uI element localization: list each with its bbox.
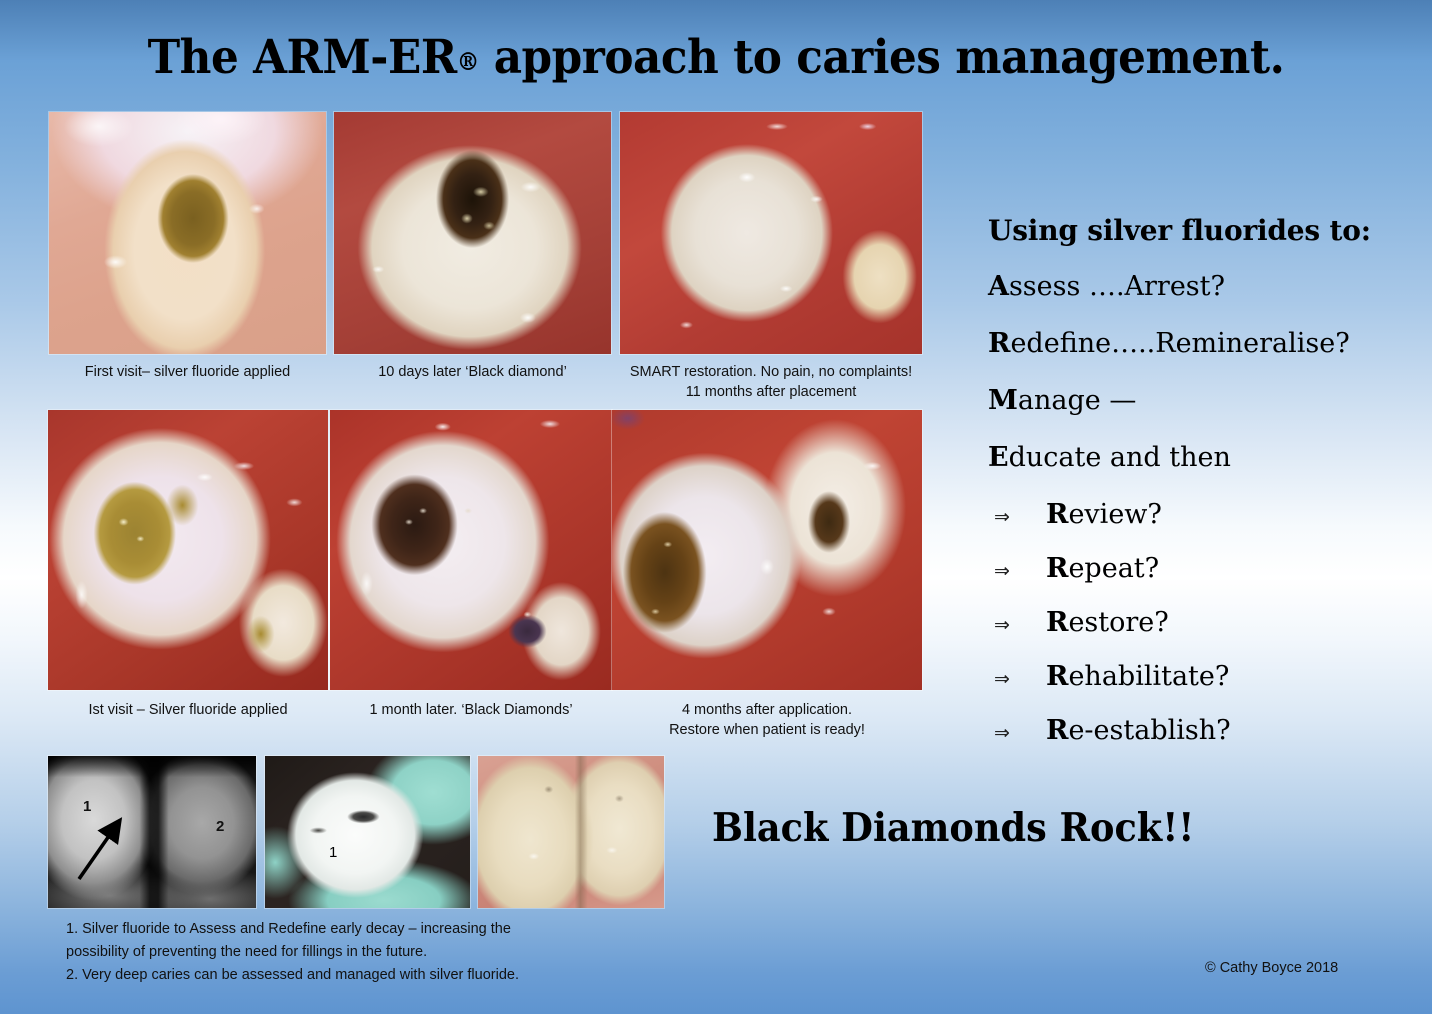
bullet-item-repeat: ⇒ Repeat? xyxy=(988,553,1418,584)
bullet-rest-rehabilitate: ehabilitate? xyxy=(1068,661,1229,692)
caption-smart-restoration: SMART restoration. No pain, no complaint… xyxy=(610,362,932,402)
armer-initial-m: M xyxy=(988,385,1018,416)
armer-item-assess: Assess ….Arrest? xyxy=(988,271,1418,302)
radiograph-label-1: 1 xyxy=(83,798,91,815)
armer-initial-e: E xyxy=(988,442,1009,473)
armer-item-educate: Educate and then xyxy=(988,442,1418,473)
photo-sound-molars xyxy=(478,756,664,908)
photo-black-diamond-10-days xyxy=(334,112,611,354)
bullet-text-rehabilitate: Rehabilitate? xyxy=(1046,661,1229,692)
armer-text-educate: ducate and then xyxy=(1009,442,1231,473)
armer-text-manage: anage — xyxy=(1018,385,1136,416)
photo-4-months-after xyxy=(612,410,922,690)
caption-4-months-after: 4 months after application. Restore when… xyxy=(612,700,922,740)
armer-heading: Using silver fluorides to: xyxy=(988,214,1418,247)
bullet-initial-restore: R xyxy=(1046,607,1068,638)
armer-item-manage: Manage — xyxy=(988,385,1418,416)
armer-text-redefine: edefine…..Remineralise? xyxy=(1010,328,1349,359)
bullet-item-review: ⇒ Review? xyxy=(988,499,1418,530)
photo-black-diamonds-1-month xyxy=(330,410,612,690)
armer-panel: Using silver fluorides to: Assess ….Arre… xyxy=(988,214,1418,769)
caption-first-visit: First visit– silver fluoride applied xyxy=(49,362,326,382)
photo-first-visit xyxy=(49,112,326,354)
bullet-item-reestablish: ⇒ Re-establish? xyxy=(988,715,1418,746)
armer-text-assess: ssess ….Arrest? xyxy=(1009,271,1225,302)
radiograph-label-2: 2 xyxy=(216,818,224,835)
page-title: The ARM-ER® approach to caries managemen… xyxy=(50,30,1382,85)
bullet-text-reestablish: Re-establish? xyxy=(1046,715,1231,746)
bullet-rest-restore: estore? xyxy=(1068,607,1168,638)
bullet-initial-review: R xyxy=(1046,499,1068,530)
slide-canvas: The ARM-ER® approach to caries managemen… xyxy=(0,0,1432,1014)
page-title-main: The ARM-ER xyxy=(148,30,457,85)
bullet-item-rehabilitate: ⇒ Rehabilitate? xyxy=(988,661,1418,692)
bullet-initial-rehabilitate: R xyxy=(1046,661,1068,692)
bullet-initial-repeat: R xyxy=(1046,553,1068,584)
extracted-tooth-label-1: 1 xyxy=(329,844,337,861)
footnotes: 1. Silver fluoride to Assess and Redefin… xyxy=(66,918,586,987)
bullet-text-repeat: Repeat? xyxy=(1046,553,1159,584)
bullet-rest-reestablish: e-establish? xyxy=(1068,715,1230,746)
page-title-rest: approach to caries management. xyxy=(479,30,1284,85)
copyright-notice: © Cathy Boyce 2018 xyxy=(1205,960,1338,976)
bullet-initial-reestablish: R xyxy=(1046,715,1068,746)
footnote-2: 2. Very deep caries can be assessed and … xyxy=(66,964,586,987)
radiograph-arrow-icon xyxy=(48,756,256,908)
caption-black-diamonds-1-month: 1 month later. ‘Black Diamonds’ xyxy=(328,700,614,720)
caption-ist-visit-row2: Ist visit – Silver fluoride applied xyxy=(40,700,336,720)
armer-bullet-list: ⇒ Review? ⇒ Repeat? ⇒ Restore? ⇒ Rehabil… xyxy=(988,499,1418,746)
photo-radiograph: 1 2 xyxy=(48,756,256,908)
armer-item-redefine: Redefine…..Remineralise? xyxy=(988,328,1418,359)
footnote-1: 1. Silver fluoride to Assess and Redefin… xyxy=(66,918,586,964)
photo-extracted-tooth: 1 xyxy=(265,756,470,908)
armer-initial-r: R xyxy=(988,328,1010,359)
photo-ist-visit-row2 xyxy=(48,410,328,690)
armer-initial-a: A xyxy=(988,271,1009,302)
bullet-rest-review: eview? xyxy=(1068,499,1161,530)
photo-smart-restoration xyxy=(620,112,922,354)
double-arrow-icon: ⇒ xyxy=(988,614,1046,636)
slogan: Black Diamonds Rock!! xyxy=(712,805,1194,851)
double-arrow-icon: ⇒ xyxy=(988,506,1046,528)
double-arrow-icon: ⇒ xyxy=(988,722,1046,744)
caption-black-diamond-10-days: 10 days later ‘Black diamond’ xyxy=(334,362,611,382)
double-arrow-icon: ⇒ xyxy=(988,668,1046,690)
bullet-rest-repeat: epeat? xyxy=(1068,553,1159,584)
bullet-item-restore: ⇒ Restore? xyxy=(988,607,1418,638)
bullet-text-restore: Restore? xyxy=(1046,607,1169,638)
double-arrow-icon: ⇒ xyxy=(988,560,1046,582)
bullet-text-review: Review? xyxy=(1046,499,1162,530)
registered-mark: ® xyxy=(457,47,479,76)
